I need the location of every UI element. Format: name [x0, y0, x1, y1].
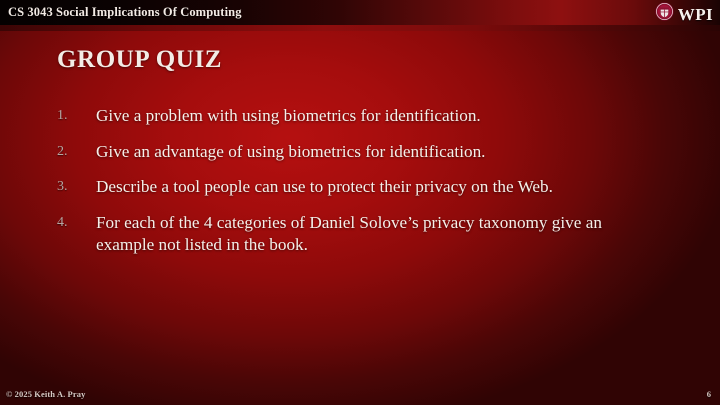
list-item-text: Give an advantage of using biometrics fo… [96, 141, 657, 164]
list-item: 4. For each of the 4 categories of Danie… [57, 212, 657, 257]
list-item-number: 3. [57, 176, 96, 199]
footer-page-number: 6 [707, 389, 711, 399]
list-item: 3. Describe a tool people can use to pro… [57, 176, 657, 199]
list-item-number: 1. [57, 105, 96, 128]
header-accent-rule [0, 25, 720, 31]
wpi-wordmark: WPI [678, 6, 713, 23]
slide: CS 3043 Social Implications Of Computing… [0, 0, 720, 405]
list-item: 1. Give a problem with using biometrics … [57, 105, 657, 128]
list-item-number: 2. [57, 141, 96, 164]
slide-title: GROUP QUIZ [57, 46, 222, 74]
list-item-text: Describe a tool people can use to protec… [96, 176, 657, 199]
list-item: 2. Give an advantage of using biometrics… [57, 141, 657, 164]
list-item-number: 4. [57, 212, 96, 235]
footer-copyright: © 2025 Keith A. Pray [6, 389, 85, 399]
slide-header-bar: CS 3043 Social Implications Of Computing… [0, 0, 720, 25]
list-item-text: Give a problem with using biometrics for… [96, 105, 657, 128]
course-title: CS 3043 Social Implications Of Computing [8, 5, 242, 20]
wpi-seal-icon [655, 2, 674, 26]
wpi-brand: WPI [655, 2, 713, 26]
list-item-text: For each of the 4 categories of Daniel S… [96, 212, 657, 257]
quiz-question-list: 1. Give a problem with using biometrics … [57, 105, 657, 270]
